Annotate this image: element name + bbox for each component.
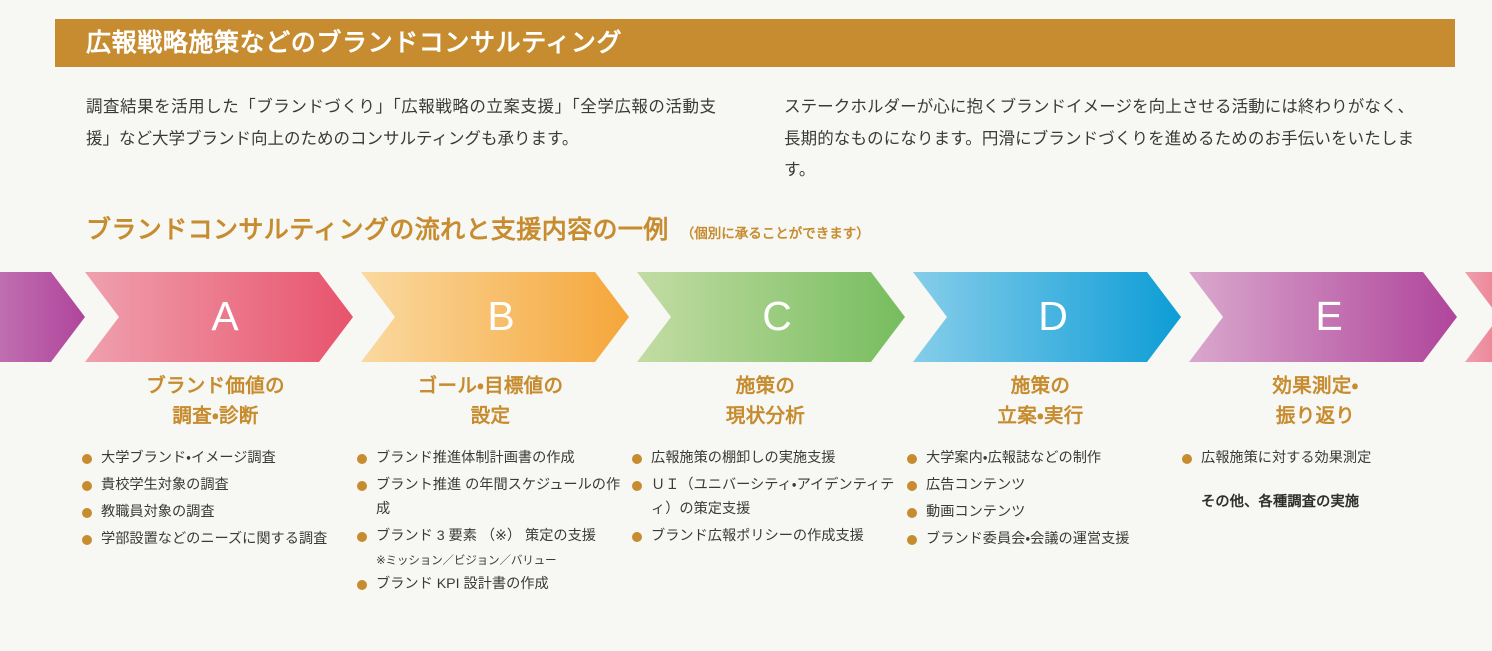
list-item: 広報施策の棚卸しの実施支援: [632, 447, 899, 471]
list-item-note: ※ミッション／ビジョン／バリュー: [357, 552, 624, 571]
list-item: ブランド 3 要素 （※） 策定の支援: [357, 525, 624, 549]
flow-column-c-title: 施策の 現状分析: [632, 372, 899, 431]
list-item: 学部設置などのニーズに関する調査: [82, 528, 349, 552]
list-item: 大学案内・広報誌などの制作: [907, 447, 1174, 471]
intro-paragraph-right: ステークホルダーが心に抱くブランドイメージを向上させる活動には終わりがなく、長期…: [784, 92, 1414, 187]
list-item: 動画コンテンツ: [907, 501, 1174, 525]
list-item: 広告コンテンツ: [907, 474, 1174, 498]
flow-column-d: 施策の 立案・実行 大学案内・広報誌などの制作 広告コンテンツ 動画コンテンツ …: [903, 372, 1178, 600]
flow-step-letter: E: [1315, 293, 1342, 339]
flow-column-a: ブランド価値の 調査・診断 大学ブランド・イメージ調査 貴校学生対象の調査 教職…: [78, 372, 353, 600]
list-item: 広報施策に対する効果測定: [1182, 447, 1449, 471]
list-item: 貴校学生対象の調査: [82, 474, 349, 498]
intro-section: 調査結果を活用した「ブランドづくり」「広報戦略の立案支援」「全学広報の活動支援」…: [86, 92, 1426, 187]
flow-column-a-list: 大学ブランド・イメージ調査 貴校学生対象の調査 教職員対象の調査 学部設置などの…: [82, 447, 349, 551]
list-item: ブランド委員会・会議の運営支援: [907, 528, 1174, 552]
flow-column-c: 施策の 現状分析 広報施策の棚卸しの実施支援 ＵＩ（ユニバーシティ・アイデンティ…: [628, 372, 903, 600]
list-item: ブランド推進体制計画書の作成: [357, 447, 624, 471]
flow-column-e-footer: その他、各種調査の実施: [1182, 491, 1449, 511]
list-item: ブランド広報ポリシーの作成支援: [632, 525, 899, 549]
flow-column-c-list: 広報施策の棚卸しの実施支援 ＵＩ（ユニバーシティ・アイデンティティ）の策定支援 …: [632, 447, 899, 548]
list-item: ＵＩ（ユニバーシティ・アイデンティティ）の策定支援: [632, 474, 899, 522]
flow-step-letter: A: [211, 293, 239, 339]
section-heading: ブランドコンサルティングの流れと支援内容の一例 （個別に承ることができます）: [86, 218, 870, 243]
flow-columns: ブランド価値の 調査・診断 大学ブランド・イメージ調査 貴校学生対象の調査 教職…: [0, 372, 1492, 600]
flow-column-a-title: ブランド価値の 調査・診断: [82, 372, 349, 431]
list-item: ブラント推進 の年間スケジュールの作成: [357, 474, 624, 522]
flow-chevron-band: ABCDE: [0, 272, 1492, 362]
section-heading-text: ブランドコンサルティングの流れと支援内容の一例: [86, 218, 669, 243]
flow-column-b-title: ゴール・目標値の 設定: [357, 372, 624, 431]
flow-column-b-list: ブランド推進体制計画書の作成 ブラント推進 の年間スケジュールの作成 ブランド …: [357, 447, 624, 597]
flow-column-d-list: 大学案内・広報誌などの制作 広告コンテンツ 動画コンテンツ ブランド委員会・会議…: [907, 447, 1174, 551]
section-heading-note: （個別に承ることができます）: [681, 227, 870, 241]
flow-column-b: ゴール・目標値の 設定 ブランド推進体制計画書の作成 ブラント推進 の年間スケジ…: [353, 372, 628, 600]
list-item: 大学ブランド・イメージ調査: [82, 447, 349, 471]
list-item: 教職員対象の調査: [82, 501, 349, 525]
list-item: ブランド KPI 設計書の作成: [357, 573, 624, 597]
flow-column-e: 効果測定・ 振り返り 広報施策に対する効果測定 その他、各種調査の実施: [1178, 372, 1453, 600]
page-title: 広報戦略施策などのブランドコンサルティング: [55, 31, 622, 56]
flow-column-d-title: 施策の 立案・実行: [907, 372, 1174, 431]
flow-step-letter: D: [1038, 293, 1068, 339]
intro-paragraph-left: 調査結果を活用した「ブランドづくり」「広報戦略の立案支援」「全学広報の活動支援」…: [86, 92, 716, 187]
flow-column-e-list: 広報施策に対する効果測定: [1182, 447, 1449, 471]
flow-chevron-svg: ABCDE: [0, 272, 1492, 362]
page-title-bar: 広報戦略施策などのブランドコンサルティング: [55, 19, 1455, 67]
flow-step-letter: B: [487, 293, 514, 339]
flow-column-e-title: 効果測定・ 振り返り: [1182, 372, 1449, 431]
flow-step-letter: C: [762, 293, 792, 339]
